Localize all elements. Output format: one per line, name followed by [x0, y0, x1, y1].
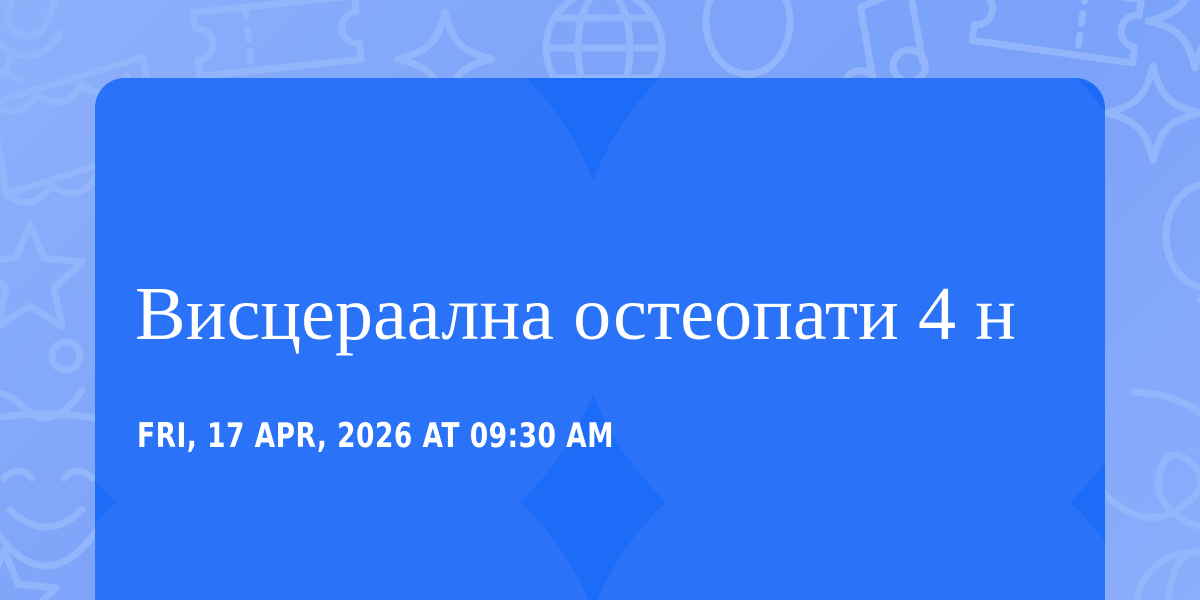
microphone-icon — [0, 0, 96, 90]
globe-icon — [1124, 540, 1200, 600]
event-card[interactable]: Висцераална остеопати 4 н FRI, 17 APR, 2… — [95, 78, 1105, 600]
sparkle-icon — [1140, 0, 1200, 76]
event-banner-stage: Висцераална остеопати 4 н FRI, 17 APR, 2… — [0, 0, 1200, 600]
star-icon — [0, 214, 90, 334]
sparkle-icon — [1098, 58, 1200, 168]
event-card-content: Висцераална остеопати 4 н FRI, 17 APR, 2… — [135, 78, 1105, 600]
star-icon — [0, 540, 64, 600]
event-datetime: FRI, 17 APR, 2026 AT 09:30 AM — [137, 419, 614, 453]
balloon-icon — [1150, 180, 1200, 330]
ticket-icon — [962, 0, 1152, 78]
confetti-swirl-icon — [0, 320, 104, 450]
confetti-swirl-icon — [1092, 404, 1200, 600]
event-title: Висцераална остеопати 4 н — [135, 274, 1105, 355]
